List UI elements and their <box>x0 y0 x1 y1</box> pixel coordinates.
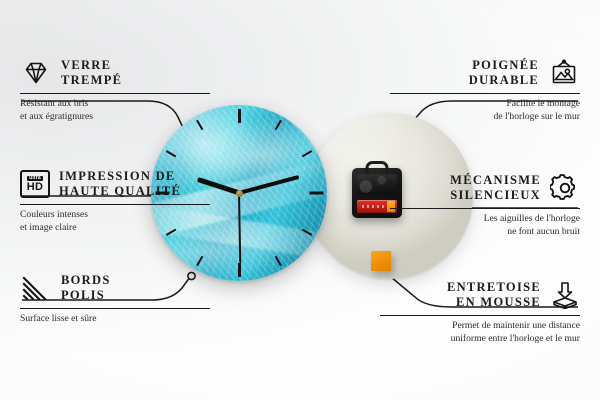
feature-impression-haute-qualite: ultra HD IMPRESSION DEHAUTE QUALITÉ Coul… <box>20 169 210 235</box>
gear-icon <box>550 174 580 202</box>
center-cap <box>236 190 243 197</box>
feature-description: Facilite le montagede l'horloge sur le m… <box>390 98 580 124</box>
diamond-icon <box>20 60 52 86</box>
ultra-hd-icon: ultra HD <box>20 170 50 198</box>
feature-title: IMPRESSION DEHAUTE QUALITÉ <box>59 169 181 200</box>
divider <box>390 208 580 210</box>
feature-description: Résistant aux briset aux égratignures <box>20 98 210 124</box>
feature-description: Surface lisse et sûre <box>20 313 210 326</box>
feature-entretoise-en-mousse: ENTRETOISEEN MOUSSE Permet de maintenir … <box>380 280 580 346</box>
feature-description: Les aiguilles de l'horlogene font aucun … <box>390 213 580 239</box>
divider <box>20 204 210 206</box>
feature-title: POIGNÉEDURABLE <box>469 58 539 89</box>
feature-bords-polis: BORDSPOLIS Surface lisse et sûre <box>20 273 210 326</box>
diagonal-lines-icon <box>20 275 52 301</box>
tick-mark <box>238 109 241 123</box>
divider <box>20 93 210 95</box>
infographic-canvas: VERRETREMPÉ Résistant aux briset aux égr… <box>0 0 600 400</box>
feature-description: Permet de maintenir une distanceuniforme… <box>380 320 580 346</box>
divider <box>20 308 210 310</box>
feature-title: MÉCANISMESILENCIEUX <box>450 173 541 204</box>
tick-mark <box>309 192 323 195</box>
feature-description: Couleurs intenseset image claire <box>20 209 210 235</box>
hanging-loop <box>366 161 389 175</box>
hanging-picture-icon <box>548 59 580 87</box>
feature-title: VERRETREMPÉ <box>61 58 122 89</box>
feature-title: ENTRETOISEEN MOUSSE <box>447 280 541 311</box>
divider <box>380 315 580 317</box>
foam-spacer <box>371 251 391 271</box>
feature-mecanisme-silencieux: MÉCANISMESILENCIEUX Les aiguilles de l'h… <box>390 173 580 239</box>
feature-poignee-durable: POIGNÉEDURABLE Facilite le montagede l'h… <box>390 58 580 124</box>
feature-verre-trempe: VERRETREMPÉ Résistant aux briset aux égr… <box>20 58 210 124</box>
feature-title: BORDSPOLIS <box>61 273 111 304</box>
arrow-foam-pad-icon <box>550 281 580 309</box>
divider <box>390 93 580 95</box>
tick-mark <box>238 263 241 277</box>
